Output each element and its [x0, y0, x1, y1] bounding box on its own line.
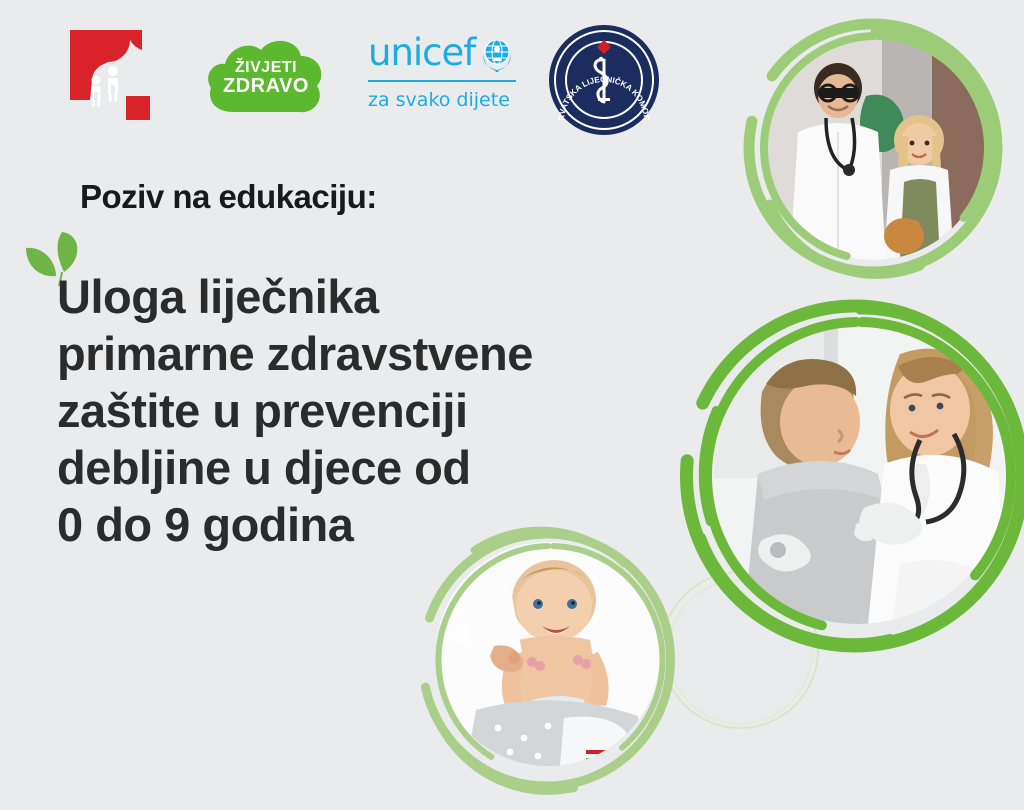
zivjeti-zdravo-line2: ZDRAVO	[205, 77, 327, 96]
hlk-seal-icon: HRVATSKA LIJEČNIČKA KOMORA	[548, 24, 660, 136]
poster-canvas: ŽIVJETI ZDRAVO unicef	[0, 0, 1024, 810]
page-headline: Uloga liječnika primarne zdravstvene zaš…	[57, 268, 697, 553]
photo-doctor-with-boy-image	[704, 318, 1010, 624]
baby-illustration	[436, 542, 660, 766]
unicef-wordmark: unicef	[368, 34, 475, 72]
headline-line-3: zaštite u prevenciji	[57, 382, 697, 439]
page-kicker: Poziv na edukaciju:	[80, 178, 377, 216]
hzjz-logo	[68, 28, 168, 128]
photo-doctor-with-girl	[740, 14, 1008, 282]
logo-bar: ŽIVJETI ZDRAVO unicef	[0, 0, 720, 150]
headline-line-1: Uloga liječnika	[57, 268, 697, 325]
hzjz-logo-icon	[68, 28, 168, 128]
headline-line-4: debljine u djece od	[57, 439, 697, 496]
unicef-globe-icon	[477, 34, 517, 74]
zivjeti-zdravo-logo: ŽIVJETI ZDRAVO	[205, 32, 327, 124]
unicef-logo: unicef za svako dijete	[368, 32, 523, 120]
photo-baby-on-towel	[414, 520, 682, 800]
photo-doctor-with-girl-image	[762, 36, 986, 260]
photo-baby-image	[436, 542, 660, 766]
hlk-logo: HRVATSKA LIJEČNIČKA KOMORA	[548, 24, 660, 136]
unicef-wordmark-row: unicef	[368, 32, 523, 74]
zivjeti-zdravo-label: ŽIVJETI ZDRAVO	[205, 58, 327, 96]
doctor-boy-illustration	[704, 318, 1010, 624]
unicef-divider	[368, 80, 516, 82]
unicef-tagline: za svako dijete	[368, 89, 523, 111]
headline-line-2: primarne zdravstvene	[57, 325, 697, 382]
photo-doctor-with-boy	[676, 292, 1024, 660]
doctor-girl-illustration	[762, 36, 986, 260]
